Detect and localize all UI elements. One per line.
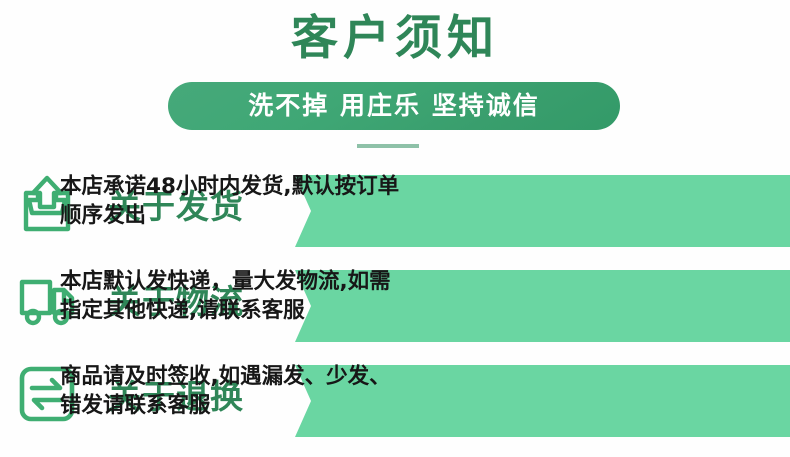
notice-row-text: 本店承诺48小时内发货,默认按订单 顺序发出: [60, 172, 766, 230]
notice-row-logistics: 关于物流 本店默认发快递，量大发物流,如需 指定其他快递,请联系客服: [0, 260, 790, 355]
slogan-banner: 洗不掉 用庄乐 坚持诚信: [168, 82, 620, 130]
notice-row-line: 顺序发出: [60, 201, 766, 230]
notice-row-returns: 关于退换 商品请及时签收,如遇漏发、少发、 错发请联系客服: [0, 355, 790, 450]
page-title: 客户须知: [0, 8, 790, 70]
customer-notice-page: 客户须知 洗不掉 用庄乐 坚持诚信 关于发货 本店承诺48小时内发货,默认按订单…: [0, 0, 790, 457]
notice-row-shipping: 关于发货 本店承诺48小时内发货,默认按订单 顺序发出: [0, 165, 790, 260]
notice-rows: 关于发货 本店承诺48小时内发货,默认按订单 顺序发出 关于物流: [0, 165, 790, 450]
notice-row-line: 商品请及时签收,如遇漏发、少发、: [60, 362, 766, 391]
notice-row-line: 本店默认发快递，量大发物流,如需: [60, 267, 766, 296]
notice-row-line: 错发请联系客服: [60, 391, 766, 420]
notice-row-text: 商品请及时签收,如遇漏发、少发、 错发请联系客服: [60, 362, 766, 420]
notice-row-text: 本店默认发快递，量大发物流,如需 指定其他快递,请联系客服: [60, 267, 766, 325]
notice-row-line: 指定其他快递,请联系客服: [60, 296, 766, 325]
page-header: 客户须知 洗不掉 用庄乐 坚持诚信: [0, 0, 790, 160]
header-divider: [357, 144, 419, 148]
slogan-text: 洗不掉 用庄乐 坚持诚信: [248, 91, 539, 121]
notice-row-line: 本店承诺48小时内发货,默认按订单: [60, 172, 766, 201]
